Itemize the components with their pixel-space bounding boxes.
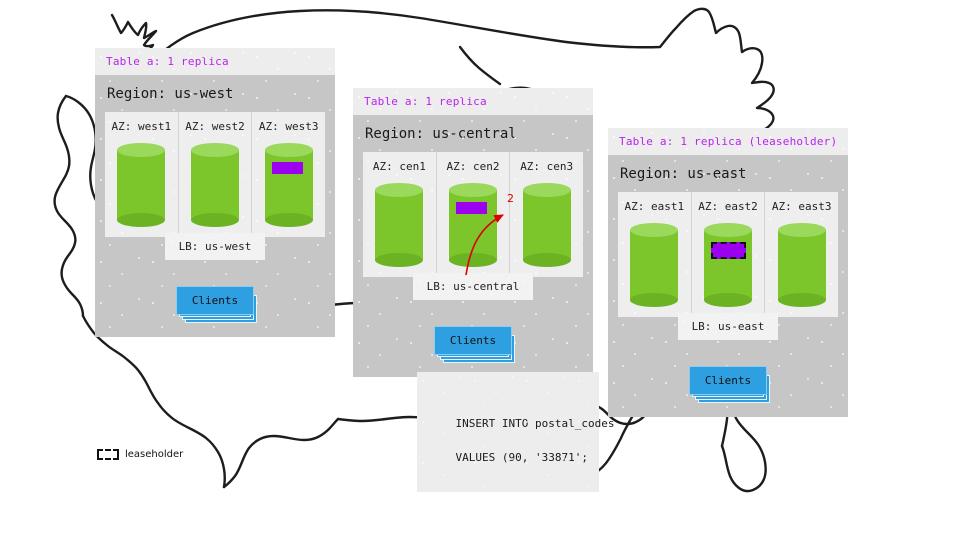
region-panel-us-west: Table a: 1 replica Region: us-west AZ: w… [95,48,335,337]
load-balancer-us-east[interactable]: LB: us-east [678,313,779,340]
region-title: Region: us-central [363,115,583,152]
az-label: AZ: cen2 [437,160,510,173]
cylinder-top [117,143,165,157]
cylinder-top [778,223,826,237]
az-cell-cen3[interactable]: AZ: cen3 [510,152,583,277]
az-cell-east1[interactable]: AZ: east1 [618,192,692,317]
region-panel-us-central: Table a: 1 replica Region: us-central AZ… [353,88,593,377]
az-label: AZ: east3 [765,200,838,213]
node-cylinder-west3[interactable] [265,143,313,227]
az-cell-west1[interactable]: AZ: west1 [105,112,179,237]
node-cylinder-cen2[interactable] [449,183,497,267]
cylinder-bottom [191,213,239,227]
cylinder-bottom [778,293,826,307]
legend-label: leaseholder [125,449,183,460]
az-label: AZ: east2 [692,200,765,213]
az-cell-east3[interactable]: AZ: east3 [765,192,838,317]
legend: leaseholder [97,449,183,460]
az-label: AZ: west1 [105,120,178,133]
clients-button[interactable]: Clients [689,366,767,395]
cylinder-body [630,230,678,300]
cylinder-body [449,190,497,260]
cylinder-body [778,230,826,300]
cylinder-bottom [375,253,423,267]
region-body-us-east: Region: us-east AZ: east1 AZ: east2 [608,155,848,417]
region-header-us-central: Table a: 1 replica [353,88,593,115]
region-body-us-west: Region: us-west AZ: west1 AZ: west2 [95,75,335,337]
node-cylinder-cen3[interactable] [523,183,571,267]
region-replica-label: Table a: 1 replica [106,55,229,68]
az-row-us-east: AZ: east1 AZ: east2 [618,192,838,317]
az-label: AZ: east1 [618,200,691,213]
node-cylinder-east3[interactable] [778,223,826,307]
cylinder-bottom [449,253,497,267]
az-label: AZ: cen3 [510,160,583,173]
replica-marker-east2-leaseholder[interactable] [711,242,746,259]
cylinder-body [117,150,165,220]
cylinder-top [191,143,239,157]
region-title: Region: us-east [618,155,838,192]
sql-line-1: INSERT INTO postal_codes [456,417,615,430]
node-cylinder-east1[interactable] [630,223,678,307]
texture-overlay [417,372,599,492]
cylinder-body [704,230,752,300]
cylinder-top [523,183,571,197]
region-header-us-west: Table a: 1 replica [95,48,335,75]
cylinder-bottom [704,293,752,307]
az-label: AZ: west2 [179,120,252,133]
load-balancer-us-central[interactable]: LB: us-central [413,273,534,300]
cylinder-top [265,143,313,157]
az-row-us-west: AZ: west1 AZ: west2 AZ [105,112,325,237]
cylinder-body [191,150,239,220]
cylinder-bottom [523,253,571,267]
region-header-us-east: Table a: 1 replica (leaseholder) [608,128,848,155]
region-title: Region: us-west [105,75,325,112]
clients-stack-us-east[interactable]: Clients [689,366,767,395]
cylinder-top [375,183,423,197]
cylinder-body [375,190,423,260]
sql-statement-box: INSERT INTO postal_codes VALUES (90, '33… [417,372,599,492]
az-cell-west3[interactable]: AZ: west3 [252,112,325,237]
replica-marker-cen2[interactable] [456,202,487,214]
sql-line-2: VALUES (90, '33871'; [456,451,588,464]
az-label: AZ: cen1 [363,160,436,173]
region-replica-label: Table a: 1 replica (leaseholder) [619,135,837,148]
clients-button[interactable]: Clients [434,326,512,355]
cylinder-bottom [117,213,165,227]
cylinder-bottom [265,213,313,227]
clients-stack-us-west[interactable]: Clients [176,286,254,315]
cylinder-body [265,150,313,220]
clients-button[interactable]: Clients [176,286,254,315]
lb-label: LB: us-west [179,240,252,253]
clients-stack-us-central[interactable]: Clients [434,326,512,355]
cylinder-bottom [630,293,678,307]
az-label: AZ: west3 [252,120,325,133]
node-cylinder-east2[interactable] [704,223,752,307]
load-balancer-us-west[interactable]: LB: us-west [165,233,266,260]
node-cylinder-cen1[interactable] [375,183,423,267]
cylinder-top [704,223,752,237]
region-body-us-central: Region: us-central AZ: cen1 AZ: cen2 [353,115,593,377]
node-cylinder-west1[interactable] [117,143,165,227]
cylinder-top [630,223,678,237]
lb-label: LB: us-east [692,320,765,333]
arrow-step-number-2: 2 [507,192,514,205]
region-replica-label: Table a: 1 replica [364,95,487,108]
leaseholder-swatch-icon [97,449,119,460]
cylinder-body [523,190,571,260]
lb-label: LB: us-central [427,280,520,293]
diagram-canvas: Table a: 1 replica Region: us-west AZ: w… [0,0,960,540]
node-cylinder-west2[interactable] [191,143,239,227]
replica-marker-west3[interactable] [272,162,303,174]
az-cell-cen1[interactable]: AZ: cen1 [363,152,437,277]
cylinder-top [449,183,497,197]
az-row-us-central: AZ: cen1 AZ: cen2 [363,152,583,277]
az-cell-east2[interactable]: AZ: east2 [692,192,766,317]
region-panel-us-east: Table a: 1 replica (leaseholder) Region:… [608,128,848,417]
az-cell-west2[interactable]: AZ: west2 [179,112,253,237]
az-cell-cen2[interactable]: AZ: cen2 [437,152,511,277]
